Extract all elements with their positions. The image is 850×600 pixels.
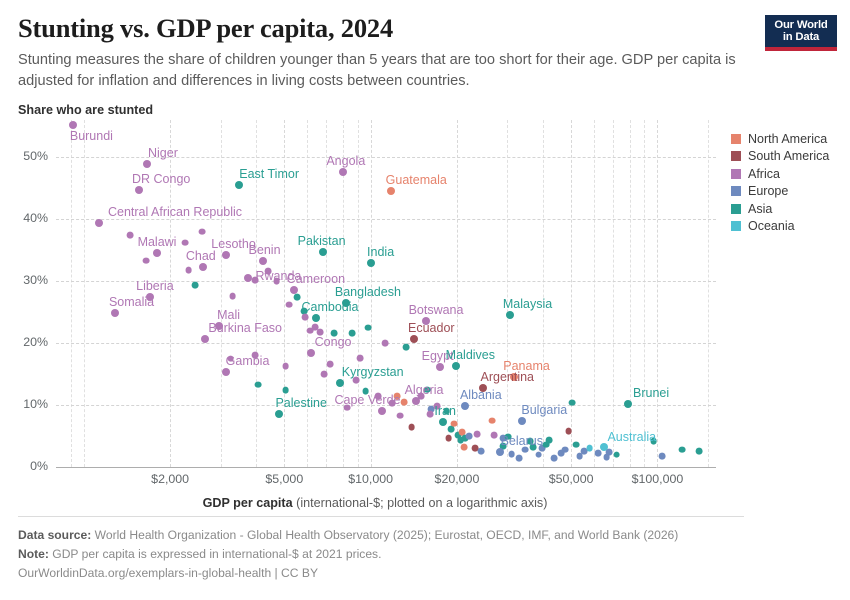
data-point[interactable]: [412, 397, 420, 405]
data-point[interactable]: [69, 121, 77, 129]
data-point[interactable]: [235, 181, 243, 189]
data-point-label: Central African Republic: [108, 205, 242, 219]
legend-item-label: Asia: [748, 202, 772, 216]
data-point[interactable]: [489, 417, 496, 424]
gridline-vertical-major: [571, 120, 572, 467]
data-point[interactable]: [565, 428, 572, 435]
footer-divider: [18, 516, 744, 517]
data-point[interactable]: [357, 355, 364, 362]
data-point-label: Congo: [315, 335, 352, 349]
data-point[interactable]: [252, 276, 259, 283]
data-point[interactable]: [439, 418, 447, 426]
data-point[interactable]: [215, 322, 223, 330]
data-point-label: Ecuador: [408, 321, 455, 335]
legend-item-asia[interactable]: Asia: [731, 200, 829, 218]
data-point[interactable]: [443, 408, 450, 415]
data-point[interactable]: [252, 352, 259, 359]
data-point[interactable]: [561, 446, 568, 453]
data-point-label: Maldives: [446, 348, 495, 362]
data-point[interactable]: [222, 251, 230, 259]
gridline-vertical-minor: [708, 120, 709, 467]
data-point[interactable]: [378, 407, 386, 415]
data-point[interactable]: [401, 399, 408, 406]
data-point[interactable]: [282, 363, 289, 370]
gridline-horizontal: [56, 281, 716, 282]
legend-item-south-america[interactable]: South America: [731, 148, 829, 166]
data-point[interactable]: [606, 449, 613, 456]
data-point[interactable]: [510, 373, 518, 381]
data-point[interactable]: [530, 444, 537, 451]
legend-item-oceania[interactable]: Oceania: [731, 218, 829, 236]
data-point[interactable]: [146, 293, 154, 301]
data-point-label: Palestine: [275, 396, 326, 410]
data-point[interactable]: [353, 377, 360, 384]
legend-item-label: Europe: [748, 184, 788, 198]
data-point[interactable]: [496, 448, 504, 456]
data-point[interactable]: [326, 361, 333, 368]
data-point[interactable]: [506, 311, 514, 319]
data-point-label: Australia: [607, 430, 656, 444]
data-point[interactable]: [650, 438, 657, 445]
gridline-horizontal: [56, 157, 716, 158]
gridline-vertical-minor: [221, 120, 222, 467]
data-point[interactable]: [259, 257, 267, 265]
data-point[interactable]: [474, 431, 481, 438]
data-point[interactable]: [423, 386, 430, 393]
x-axis-tick-label: $20,000: [435, 472, 480, 486]
data-point[interactable]: [286, 301, 293, 308]
data-point-label: East Timor: [239, 167, 299, 181]
gridline-horizontal: [56, 219, 716, 220]
data-point[interactable]: [222, 368, 230, 376]
data-point[interactable]: [613, 451, 620, 458]
data-point[interactable]: [624, 400, 632, 408]
data-point[interactable]: [307, 327, 314, 334]
gridline-vertical-major: [457, 120, 458, 467]
data-point[interactable]: [273, 278, 280, 285]
data-point[interactable]: [433, 403, 440, 410]
data-point-label: Pakistan: [298, 234, 346, 248]
data-point-label: Brunei: [633, 386, 669, 400]
data-point-label: Benin: [249, 243, 281, 257]
legend-color-swatch: [731, 134, 741, 144]
data-point[interactable]: [294, 294, 301, 301]
data-point-label: Bangladesh: [335, 285, 401, 299]
data-point[interactable]: [535, 451, 542, 458]
data-source-label: Data source:: [18, 528, 91, 542]
data-point[interactable]: [344, 404, 351, 411]
data-point[interactable]: [586, 445, 593, 452]
data-point[interactable]: [229, 293, 236, 300]
data-source-line: Data source: World Health Organization -…: [18, 528, 678, 542]
legend-color-swatch: [731, 186, 741, 196]
legend-item-label: South America: [748, 149, 829, 163]
data-point[interactable]: [518, 417, 526, 425]
data-point-label: Guatemala: [386, 173, 447, 187]
legend-item-north-america[interactable]: North America: [731, 130, 829, 148]
legend-color-swatch: [731, 151, 741, 161]
gridline-vertical-minor: [256, 120, 257, 467]
data-point[interactable]: [505, 433, 512, 440]
data-point[interactable]: [427, 411, 434, 418]
data-point[interactable]: [389, 400, 396, 407]
data-point-label: Malaysia: [503, 297, 552, 311]
data-point-label: Chad: [186, 249, 216, 263]
data-point[interactable]: [95, 219, 103, 227]
data-point-label: Burundi: [70, 129, 113, 143]
legend-item-africa[interactable]: Africa: [731, 165, 829, 183]
gridline-vertical-minor: [543, 120, 544, 467]
legend-item-europe[interactable]: Europe: [731, 183, 829, 201]
legend-color-swatch: [731, 169, 741, 179]
gridline-vertical-minor: [644, 120, 645, 467]
data-point[interactable]: [461, 444, 468, 451]
note-label: Note:: [18, 547, 49, 561]
gridline-vertical-minor: [358, 120, 359, 467]
data-point[interactable]: [143, 257, 150, 264]
data-point[interactable]: [387, 187, 395, 195]
legend-item-label: Africa: [748, 167, 780, 181]
data-point[interactable]: [307, 349, 315, 357]
data-point[interactable]: [111, 309, 119, 317]
data-point-label: Lesotho: [211, 237, 255, 251]
data-point[interactable]: [394, 393, 401, 400]
data-point[interactable]: [374, 392, 381, 399]
x-axis-tick-label: $50,000: [549, 472, 594, 486]
data-point[interactable]: [275, 410, 283, 418]
data-point[interactable]: [135, 186, 143, 194]
gridline-vertical-major: [170, 120, 171, 467]
data-point[interactable]: [367, 259, 375, 267]
scatter-plot[interactable]: 0%10%20%30%40%50%$2,000$5,000$10,000$20,…: [0, 0, 850, 600]
data-point[interactable]: [408, 423, 415, 430]
gridline-vertical-major: [284, 120, 285, 467]
data-point[interactable]: [301, 314, 308, 321]
data-point-label: Cambodia: [302, 300, 359, 314]
gridline-vertical-major: [657, 120, 658, 467]
data-point[interactable]: [331, 330, 338, 337]
x-axis-tick-label: $100,000: [632, 472, 684, 486]
data-point[interactable]: [410, 335, 418, 343]
x-axis-tick-label: $5,000: [265, 472, 303, 486]
data-point[interactable]: [696, 447, 703, 454]
data-point[interactable]: [365, 324, 372, 331]
gridline-vertical-major: [371, 120, 372, 467]
gridline-vertical-minor: [594, 120, 595, 467]
data-point[interactable]: [282, 387, 289, 394]
data-point-label: Cameroon: [287, 272, 345, 286]
x-axis-tick-label: $2,000: [151, 472, 189, 486]
y-axis-tick-label: 10%: [0, 397, 48, 411]
data-point[interactable]: [403, 344, 410, 351]
data-point[interactable]: [573, 441, 580, 448]
data-point[interactable]: [381, 340, 388, 347]
x-axis-tick-label: $10,000: [348, 472, 393, 486]
y-axis-tick-label: 40%: [0, 211, 48, 225]
data-point[interactable]: [192, 281, 199, 288]
data-point[interactable]: [348, 330, 355, 337]
data-point[interactable]: [550, 455, 557, 462]
gridline-vertical-minor: [84, 120, 85, 467]
data-point[interactable]: [321, 371, 328, 378]
data-point[interactable]: [479, 384, 487, 392]
y-axis-tick-label: 30%: [0, 273, 48, 287]
data-point[interactable]: [312, 314, 320, 322]
data-point[interactable]: [600, 443, 608, 451]
data-point[interactable]: [265, 268, 272, 275]
x-axis-line: [56, 467, 716, 468]
data-point[interactable]: [521, 446, 528, 453]
data-point[interactable]: [422, 317, 430, 325]
data-point[interactable]: [445, 435, 452, 442]
data-point[interactable]: [339, 168, 347, 176]
data-point[interactable]: [508, 451, 515, 458]
data-point[interactable]: [336, 379, 344, 387]
data-point[interactable]: [201, 335, 209, 343]
legend-color-swatch: [731, 204, 741, 214]
data-point[interactable]: [362, 388, 369, 395]
legend-item-label: North America: [748, 132, 827, 146]
data-point[interactable]: [451, 420, 458, 427]
data-point[interactable]: [185, 267, 192, 274]
gridline-vertical-minor: [613, 120, 614, 467]
gridline-vertical-minor: [71, 120, 72, 467]
data-point[interactable]: [244, 274, 252, 282]
legend-color-swatch: [731, 221, 741, 231]
data-point[interactable]: [569, 399, 576, 406]
data-point-label: Kyrgyzstan: [342, 365, 404, 379]
data-point[interactable]: [461, 402, 469, 410]
gridline-horizontal: [56, 405, 716, 406]
data-point[interactable]: [342, 299, 350, 307]
gridline-vertical-minor: [507, 120, 508, 467]
data-point[interactable]: [659, 452, 666, 459]
data-point[interactable]: [397, 412, 404, 419]
data-point[interactable]: [290, 286, 298, 294]
note-line: Note: GDP per capita is expressed in int…: [18, 547, 381, 561]
data-point-label: Egypt: [422, 349, 454, 363]
data-point[interactable]: [227, 355, 234, 362]
data-point-label: Angola: [326, 154, 365, 168]
legend[interactable]: North AmericaSouth AmericaAfricaEuropeAs…: [731, 130, 829, 235]
data-point[interactable]: [319, 248, 327, 256]
data-source-text: World Health Organization - Global Healt…: [95, 528, 679, 542]
data-point[interactable]: [594, 450, 601, 457]
legend-item-label: Oceania: [748, 219, 795, 233]
data-point[interactable]: [452, 362, 460, 370]
data-point[interactable]: [143, 160, 151, 168]
data-point[interactable]: [153, 249, 161, 257]
note-text: GDP per capita is expressed in internati…: [52, 547, 381, 561]
data-point[interactable]: [181, 239, 188, 246]
data-point-label: Botswana: [409, 303, 464, 317]
gridline-vertical-minor: [307, 120, 308, 467]
data-point[interactable]: [198, 228, 205, 235]
data-point[interactable]: [436, 363, 444, 371]
data-point[interactable]: [199, 263, 207, 271]
data-point[interactable]: [679, 446, 686, 453]
data-point[interactable]: [466, 433, 473, 440]
gridline-vertical-minor: [326, 120, 327, 467]
y-axis-tick-label: 50%: [0, 149, 48, 163]
y-axis-tick-label: 0%: [0, 459, 48, 473]
y-axis-tick-label: 20%: [0, 335, 48, 349]
data-point[interactable]: [255, 381, 262, 388]
data-point[interactable]: [478, 447, 485, 454]
gridline-vertical-minor: [630, 120, 631, 467]
data-point[interactable]: [543, 441, 550, 448]
data-point[interactable]: [490, 431, 497, 438]
data-point[interactable]: [516, 454, 523, 461]
attribution-line: OurWorldinData.org/exemplars-in-global-h…: [18, 566, 318, 580]
data-point-label: DR Congo: [132, 172, 190, 186]
data-point[interactable]: [127, 232, 134, 239]
